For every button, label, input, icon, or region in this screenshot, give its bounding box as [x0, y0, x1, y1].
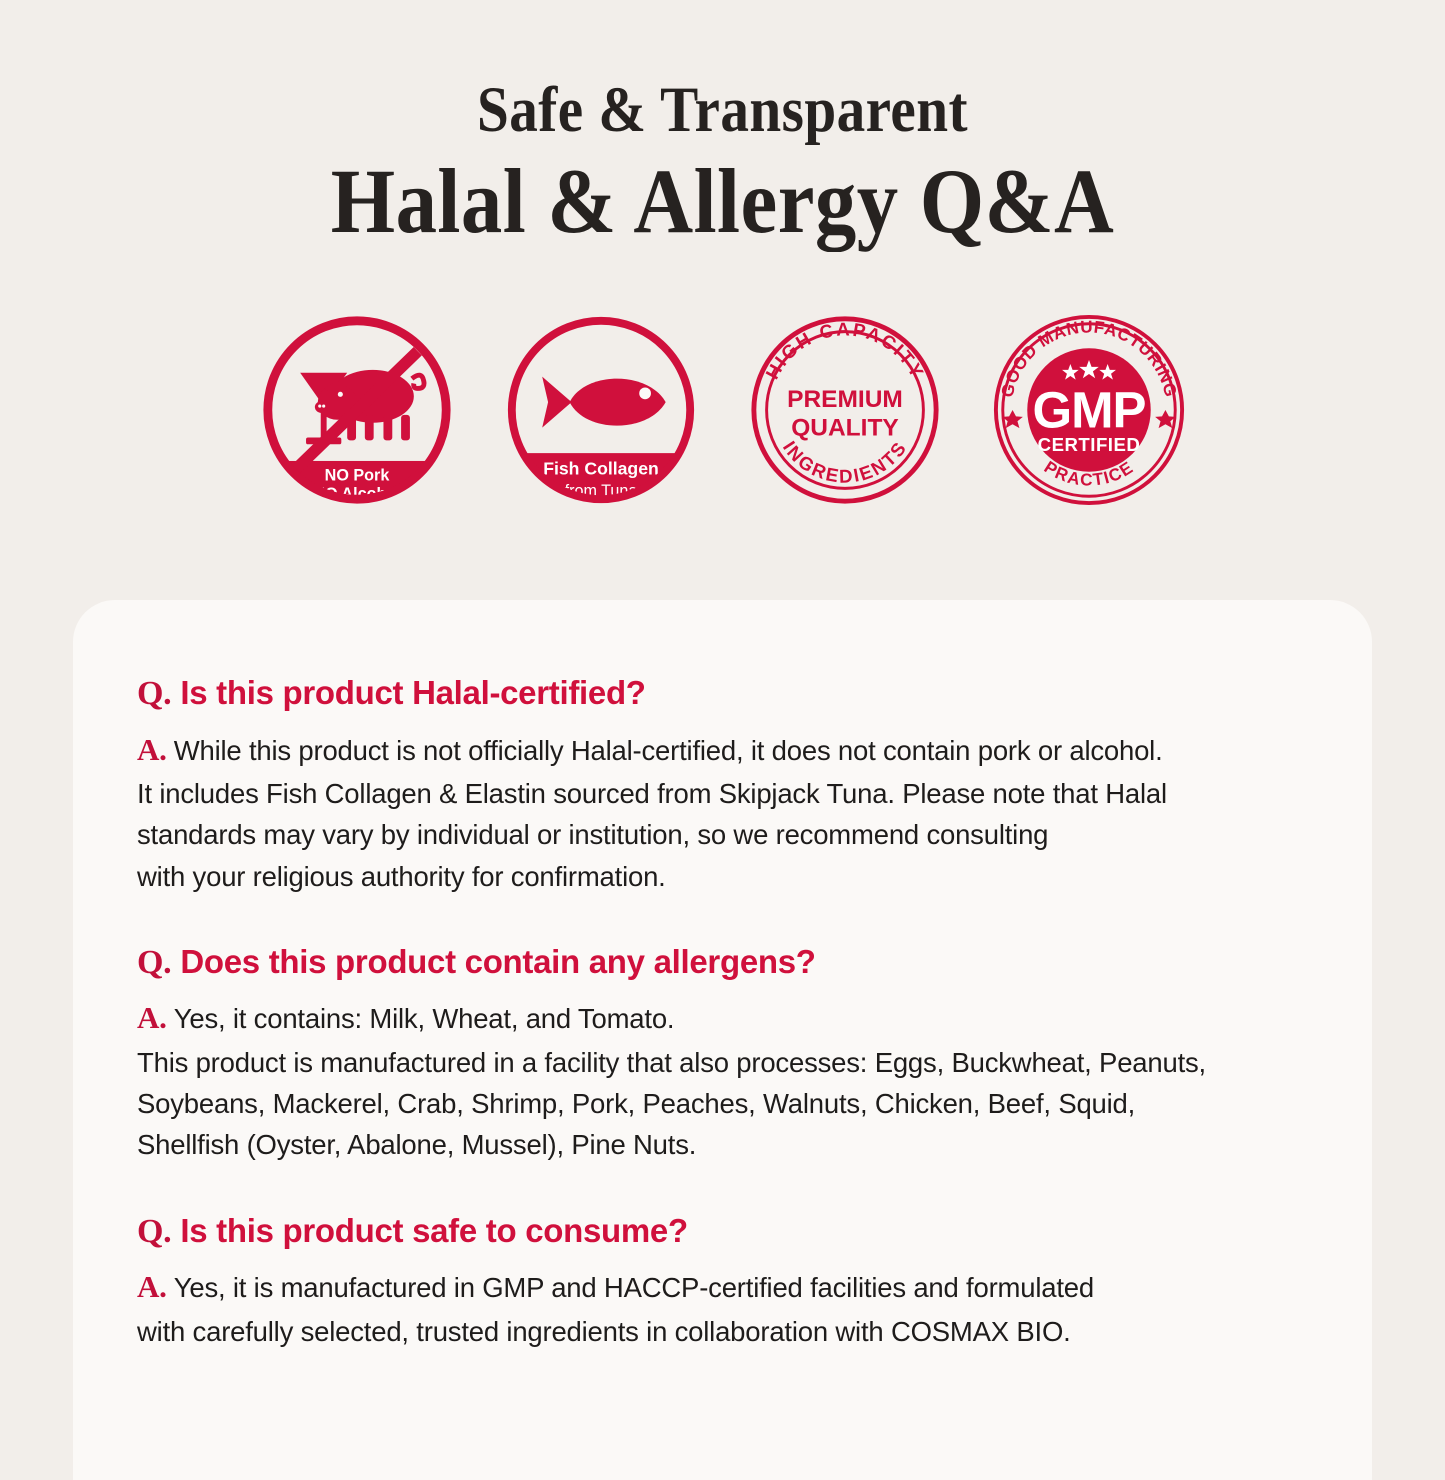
header-eyebrow: Safe & Transparent: [87, 78, 1359, 143]
badge-fish-collagen: Fish Collagen from Tuna: [503, 312, 699, 508]
badge-center-line1: PREMIUM: [787, 386, 903, 413]
fish-icon: [542, 376, 665, 427]
qa-question-text: Is this product Halal-certified?: [180, 672, 645, 713]
answer-marker: A.: [137, 732, 167, 767]
certification-badge-row: NO Pork NO Alcohol Fish Collagen from Tu…: [0, 312, 1445, 508]
question-marker: Q.: [137, 942, 171, 985]
qa-answer-line: with your religious authority for confir…: [137, 856, 1308, 897]
badge-arc-bottom: INGREDIENTS: [778, 436, 910, 486]
qa-answer-line: A.Yes, it is manufactured in GMP and HAC…: [137, 1264, 1308, 1311]
qa-card: Q. Is this product Halal-certified? A.Wh…: [73, 600, 1372, 1480]
badge-gmp-certified: GOOD MANUFACTURING PRACTICE GMP CERTIFIE…: [991, 312, 1187, 508]
qa-question-text: Is this product safe to consume?: [180, 1210, 687, 1251]
qa-answer: A.While this product is not officially H…: [137, 727, 1308, 897]
badge-premium-quality: HIGH CAPACITY INGREDIENTS PREMIUM QUALIT…: [747, 312, 943, 508]
qa-answer-text: Yes, it contains: Milk, Wheat, and Tomat…: [174, 1003, 675, 1034]
qa-question: Q. Does this product contain any allerge…: [137, 941, 1308, 985]
qa-answer-line: A.While this product is not officially H…: [137, 727, 1308, 774]
badge-no-pork-no-alcohol: NO Pork NO Alcohol: [259, 312, 455, 508]
page-title: Halal & Allergy Q&A: [72, 153, 1373, 250]
answer-marker: A.: [137, 1269, 167, 1304]
qa-answer-line: A.Yes, it contains: Milk, Wheat, and Tom…: [137, 995, 1308, 1042]
qa-answer-line: Shellfish (Oyster, Abalone, Mussel), Pin…: [137, 1124, 1308, 1165]
qa-answer-text: While this product is not officially Hal…: [174, 735, 1163, 766]
badge-center-line2: QUALITY: [791, 414, 899, 441]
qa-question: Q. Is this product safe to consume?: [137, 1210, 1308, 1254]
qa-question-text: Does this product contain any allergens?: [180, 941, 815, 982]
qa-block: Q. Is this product safe to consume? A.Ye…: [137, 1210, 1308, 1352]
answer-marker: A.: [137, 1000, 167, 1035]
page-header: Safe & Transparent Halal & Allergy Q&A: [0, 0, 1445, 250]
badge-center-line2: CERTIFIED: [1037, 434, 1140, 455]
qa-block: Q. Does this product contain any allerge…: [137, 941, 1308, 1166]
qa-answer: A.Yes, it is manufactured in GMP and HAC…: [137, 1264, 1308, 1352]
qa-question: Q. Is this product Halal-certified?: [137, 672, 1308, 716]
badge-arc-top: HIGH CAPACITY: [761, 318, 928, 382]
badge-center-line1: GMP: [1032, 381, 1145, 438]
qa-answer-text: Yes, it is manufactured in GMP and HACCP…: [174, 1272, 1094, 1303]
qa-answer-line: standards may vary by individual or inst…: [137, 814, 1308, 855]
qa-answer-line: Soybeans, Mackerel, Crab, Shrimp, Pork, …: [137, 1083, 1308, 1124]
qa-answer-line: with carefully selected, trusted ingredi…: [137, 1311, 1308, 1352]
question-marker: Q.: [137, 673, 171, 716]
qa-answer-line: This product is manufactured in a facili…: [137, 1042, 1308, 1083]
badge-band-line1: NO Pork: [324, 466, 389, 484]
qa-answer: A.Yes, it contains: Milk, Wheat, and Tom…: [137, 995, 1308, 1165]
question-marker: Q.: [137, 1211, 171, 1254]
badge-band-line1: Fish Collagen: [543, 458, 659, 478]
qa-answer-line: It includes Fish Collagen & Elastin sour…: [137, 773, 1308, 814]
qa-block: Q. Is this product Halal-certified? A.Wh…: [137, 672, 1308, 897]
